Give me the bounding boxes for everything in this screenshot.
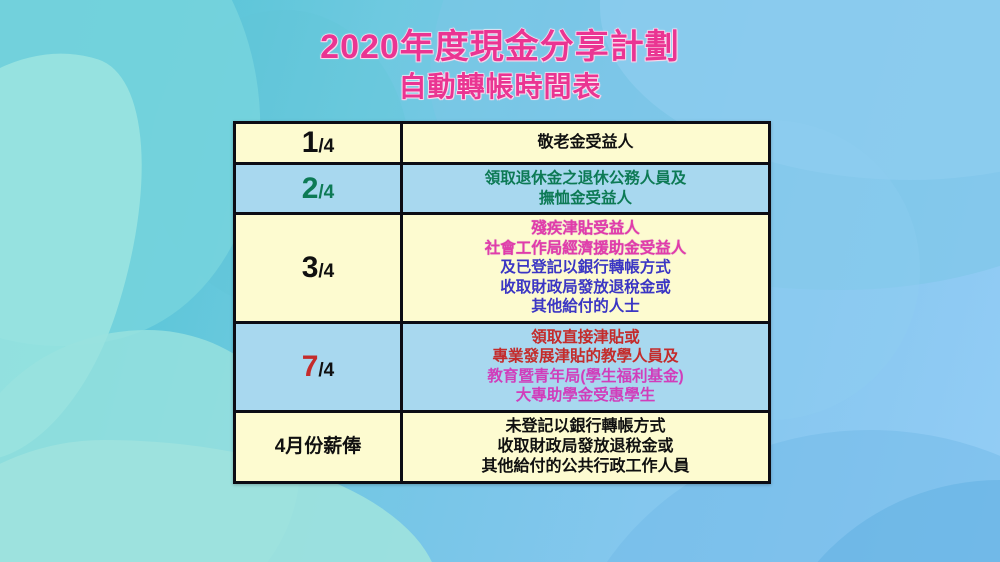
- description-line: 其他給付的公共行政工作人員: [405, 457, 766, 477]
- heading-block: 2020年度現金分享計劃 自動轉帳時間表: [0, 28, 1000, 104]
- description-line: 大專助學金受惠學生: [405, 386, 766, 406]
- description-cell: 未登記以銀行轉帳方式 收取財政局發放退稅金或 其他給付的公共行政工作人員: [402, 411, 770, 482]
- date-month: /4: [318, 182, 334, 203]
- table-row: 4月份薪俸 未登記以銀行轉帳方式 收取財政局發放退稅金或 其他給付的公共行政工作…: [235, 411, 770, 482]
- date-month: /4: [318, 261, 334, 282]
- description-cell: 殘疾津貼受益人 社會工作局經濟援助金受益人 及已登記以銀行轉帳方式 收取財政局發…: [402, 214, 770, 323]
- date-cell: 1/4: [235, 123, 402, 164]
- description-line: 敬老金受益人: [405, 133, 766, 153]
- description-line: 領取退休金之退休公務人員及: [405, 169, 766, 189]
- description-cell: 領取退休金之退休公務人員及 撫恤金受益人: [402, 164, 770, 214]
- description-cell: 敬老金受益人: [402, 123, 770, 164]
- date-day: 3: [302, 251, 319, 284]
- description-line: 撫恤金受益人: [405, 189, 766, 209]
- description-cell: 領取直接津貼或 專業發展津貼的教學人員及 教育暨青年局(學生福利基金) 大專助學…: [402, 322, 770, 411]
- description-line: 社會工作局經濟援助金受益人: [405, 239, 766, 259]
- date-month: /4: [318, 360, 334, 381]
- table-row: 7/4 領取直接津貼或 專業發展津貼的教學人員及 教育暨青年局(學生福利基金) …: [235, 322, 770, 411]
- date-cell: 2/4: [235, 164, 402, 214]
- description-line: 殘疾津貼受益人: [405, 219, 766, 239]
- description-line: 收取財政局發放退稅金或: [405, 278, 766, 298]
- table-row: 2/4 領取退休金之退休公務人員及 撫恤金受益人: [235, 164, 770, 214]
- date-cell: 3/4: [235, 214, 402, 323]
- date-month: /4: [318, 136, 334, 157]
- description-line: 收取財政局發放退稅金或: [405, 437, 766, 457]
- table-row: 1/4 敬老金受益人: [235, 123, 770, 164]
- description-line: 教育暨青年局(學生福利基金): [405, 367, 766, 387]
- date-cell: 7/4: [235, 322, 402, 411]
- page-subtitle: 自動轉帳時間表: [0, 71, 1000, 103]
- description-line: 及已登記以銀行轉帳方式: [405, 258, 766, 278]
- date-label: 4月份薪俸: [275, 436, 362, 457]
- description-line: 領取直接津貼或: [405, 328, 766, 348]
- page-title: 2020年度現金分享計劃: [0, 28, 1000, 67]
- date-day: 1: [302, 126, 319, 159]
- date-day: 2: [302, 172, 319, 205]
- background-blob-bottom-corner: [760, 480, 1000, 562]
- description-line: 未登記以銀行轉帳方式: [405, 417, 766, 437]
- date-cell: 4月份薪俸: [235, 411, 402, 482]
- description-line: 專業發展津貼的教學人員及: [405, 347, 766, 367]
- transfer-schedule-table: 1/4 敬老金受益人 2/4 領取退休金之退休公務人員及 撫恤金受益人 3/4: [233, 121, 771, 484]
- description-line: 其他給付的人士: [405, 297, 766, 317]
- slide-canvas: 2020年度現金分享計劃 自動轉帳時間表 1/4 敬老金受益人 2/4 領取退休…: [0, 0, 1000, 562]
- table-row: 3/4 殘疾津貼受益人 社會工作局經濟援助金受益人 及已登記以銀行轉帳方式 收取…: [235, 214, 770, 323]
- table-body: 1/4 敬老金受益人 2/4 領取退休金之退休公務人員及 撫恤金受益人 3/4: [235, 123, 770, 483]
- date-day: 7: [302, 350, 319, 383]
